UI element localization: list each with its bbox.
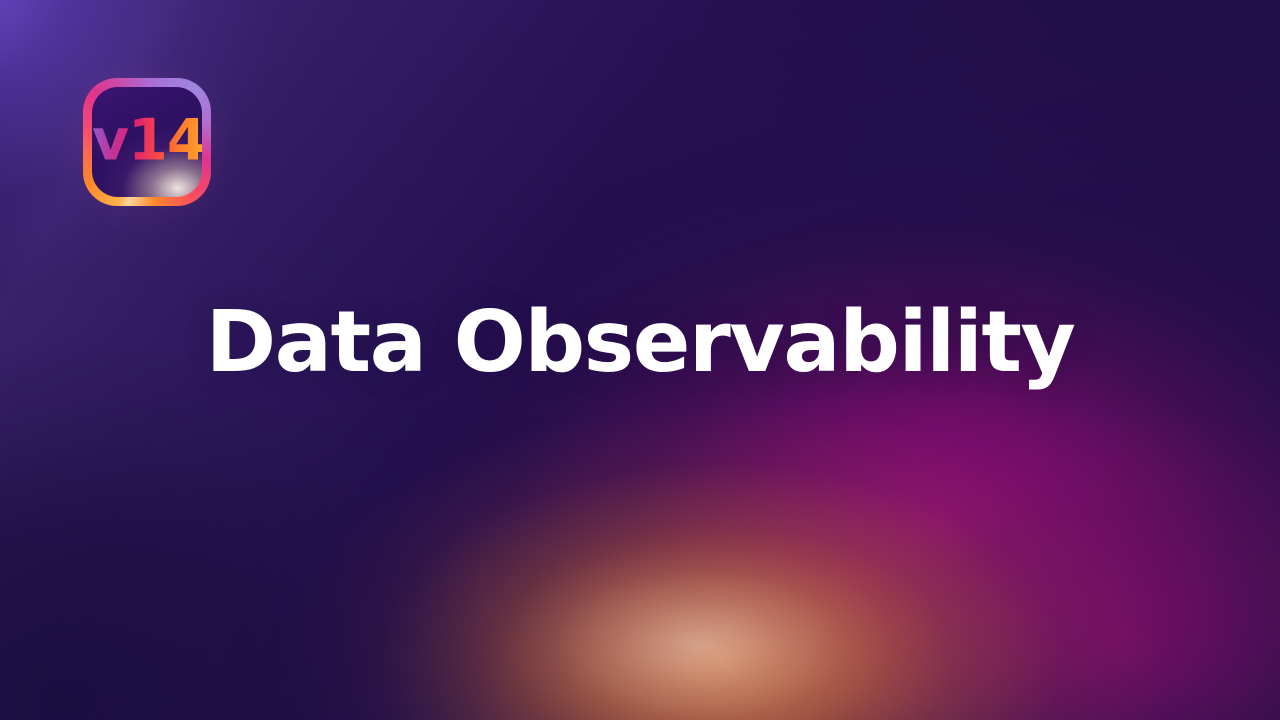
title-slide: v14 Data Observability [0,0,1280,720]
v14-logo: v14 [83,78,211,206]
page-title: Data Observability [206,298,1075,388]
logo-inner-panel: v14 [92,87,202,197]
logo-label: v14 [92,112,202,169]
headline-container: Data Observability [0,298,1280,388]
logo-frame-icon: v14 [83,78,211,206]
